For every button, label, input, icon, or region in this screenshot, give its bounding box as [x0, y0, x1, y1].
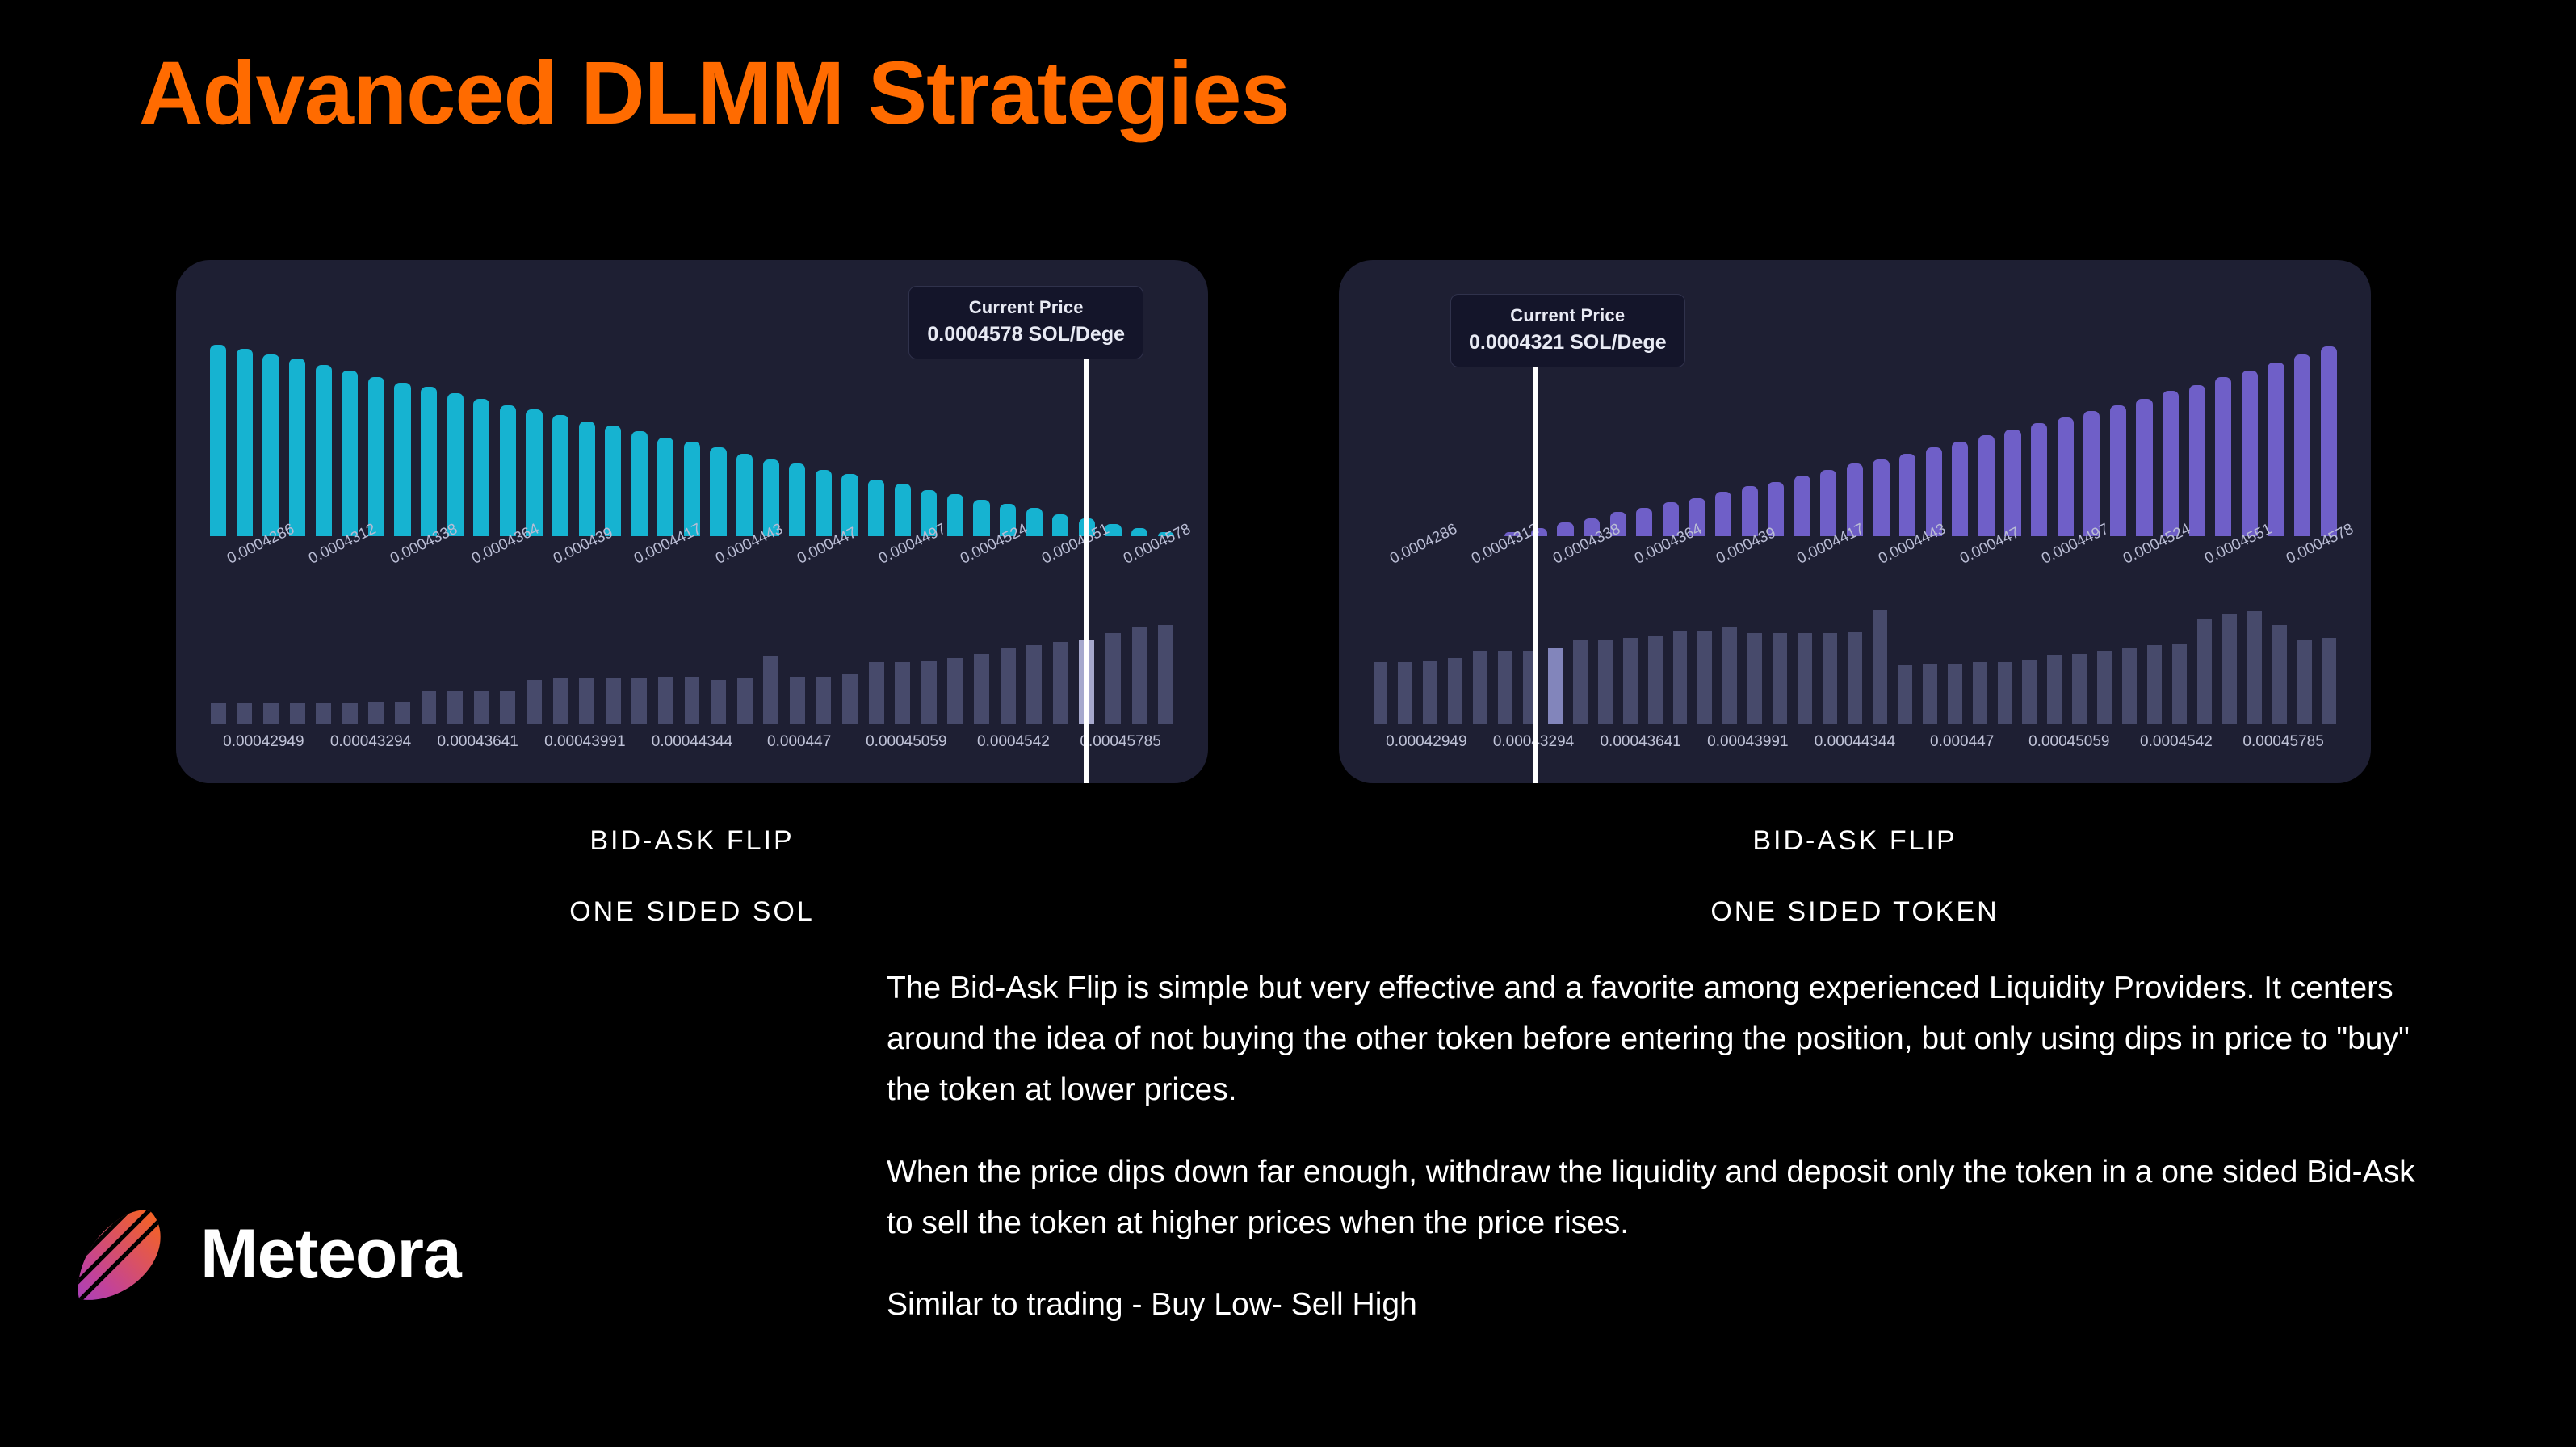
chart-bar-slot [1999, 334, 2026, 536]
chart-bar [447, 393, 464, 537]
panel-caption-left-line2: ONE SIDED SOL [176, 896, 1208, 928]
chart-bar [658, 677, 673, 723]
chart-bar [1052, 514, 1068, 537]
chart-bar [1423, 661, 1437, 723]
chart-bar-slot [1047, 334, 1074, 536]
panel-caption-right-line1: BID-ASK FLIP [1339, 825, 2371, 857]
chart-bar [1398, 662, 1412, 723]
chart-bar [685, 677, 700, 723]
chart-bar-slot [2142, 578, 2167, 723]
current-price-value: 0.0004321 SOL/Dege [1469, 330, 1667, 355]
chart-bar [500, 691, 515, 723]
chart-bar-slot [1368, 578, 1393, 723]
panel-caption-right-line2: ONE SIDED TOKEN [1339, 896, 2371, 928]
chart-bar-slot [1542, 578, 1567, 723]
chart-bar [1001, 648, 1016, 723]
chart-bar [737, 678, 753, 723]
chart-bar [579, 422, 595, 537]
chart-bar-slot [705, 334, 732, 536]
chart-bar [1557, 522, 1573, 537]
chart-bar-slot [2242, 578, 2267, 723]
chart-bar [1998, 662, 2012, 723]
chart-bar [262, 354, 279, 536]
chart-bar-slot [1592, 578, 1617, 723]
chart-bar-slot [2079, 334, 2105, 536]
chart-bar [789, 463, 805, 536]
chart-bar [2031, 423, 2047, 536]
chart-bar [816, 677, 832, 723]
axis-tick-label: 0.0004542 [2140, 733, 2213, 751]
chart-bar-slot [2289, 334, 2316, 536]
chart-bar [974, 654, 989, 723]
chart-bar-slot [389, 578, 416, 723]
chart-bar-slot [784, 334, 811, 536]
axis-tick-label: 0.00044344 [1815, 733, 1895, 751]
chart-bar [1158, 625, 1173, 723]
chart-bar [368, 377, 384, 537]
chart-bar [342, 703, 358, 723]
chart-bar [1820, 470, 1836, 537]
chart-bar [1948, 664, 1962, 723]
chart-bar [816, 470, 832, 537]
chart-bar-slot [2292, 578, 2317, 723]
chart-bar [1498, 651, 1512, 723]
chart-bar [237, 349, 253, 537]
axis-tick-label: 0.00042949 [223, 733, 304, 751]
chart-bar-slot [363, 334, 390, 536]
chart-bar [2097, 651, 2112, 723]
chart-bar [289, 359, 305, 536]
chart-bar [763, 656, 778, 723]
chart-bar-slot [1395, 334, 1421, 536]
chart-bar [2022, 660, 2037, 723]
axis-tick-label: 0.000447 [767, 733, 831, 751]
chart-bar-slot [2317, 578, 2342, 723]
chart-bar-slot [863, 334, 890, 536]
chart-bar [1673, 631, 1688, 723]
chart-bar [631, 678, 647, 723]
chart-bar-slot [1947, 334, 1974, 536]
chart-bar [710, 447, 726, 536]
axis-tick-label: 0.00042949 [1386, 733, 1466, 751]
chart-bar [973, 500, 989, 536]
chart-bar-slot [732, 578, 758, 723]
chart-bar [1636, 508, 1652, 536]
chart-bar [1598, 640, 1613, 723]
chart-bar [210, 345, 226, 537]
chart-bar-slot [521, 578, 548, 723]
chart-bar-slot [2184, 334, 2210, 536]
chart-bar [1715, 492, 1731, 536]
chart-bar-slot [1842, 334, 1869, 536]
chart-bar-slot [573, 334, 600, 536]
chart-bar-slot [732, 334, 758, 536]
chart-bar [342, 371, 358, 536]
chart-bar-slot [2217, 578, 2242, 723]
chart-bar [895, 484, 911, 536]
chart-bar [1898, 665, 1912, 723]
chart-bar-slot [1126, 334, 1153, 536]
chart-bar-slot [363, 578, 390, 723]
chart-bar-slot [337, 334, 363, 536]
chart-bar-slot [837, 334, 863, 536]
chart-bar-slot [2167, 578, 2192, 723]
chart-bar-slot [1468, 578, 1493, 723]
chart-bar-slot [1368, 334, 1395, 536]
page-title: Advanced DLMM Strategies [139, 47, 1290, 141]
chart-bar [395, 702, 410, 723]
chart-bar-slot [2042, 578, 2067, 723]
chart-bar-slot [495, 334, 522, 536]
chart-bar [2004, 430, 2020, 537]
chart-bar [895, 662, 910, 723]
chart-bar-slot [548, 578, 574, 723]
chart-bar-slot [1047, 578, 1074, 723]
chart-bar [1848, 632, 1862, 723]
axis-tick-label: 0.00045785 [1080, 733, 1160, 751]
chart-bar [2268, 363, 2284, 536]
chart-bar [2197, 619, 2212, 723]
chart-bar-slot [1768, 578, 1793, 723]
chart-bar-slot [1868, 334, 1894, 536]
chart-bar [211, 703, 226, 723]
axis-tick-label: 0.00045059 [866, 733, 946, 751]
chart-bar [2294, 354, 2310, 536]
chart-bar [2147, 645, 2162, 723]
chart-bar-slot [310, 334, 337, 536]
chart-bar [2136, 399, 2152, 536]
chart-bar [553, 678, 568, 723]
chart-bar-slot [442, 334, 468, 536]
axis-tick-label: 0.00043641 [1600, 733, 1680, 751]
chart-bar [2247, 611, 2262, 723]
chart-bar-slot [1843, 578, 1868, 723]
chart-bar-slot [416, 334, 443, 536]
body-copy: The Bid-Ask Flip is simple but very effe… [887, 963, 2445, 1330]
brand-name: Meteora [200, 1214, 461, 1294]
chart-bar-slot [889, 334, 916, 536]
body-paragraph: Similar to trading - Buy Low- Sell High [887, 1279, 2445, 1330]
chart-bar-slot [205, 334, 232, 536]
chart-bar [711, 680, 726, 723]
chart-bar-slot [205, 578, 232, 723]
chart-bar [237, 703, 252, 723]
chart-bar [605, 426, 621, 537]
chart-bar [947, 494, 963, 537]
chart-bar-slot [2092, 578, 2117, 723]
chart-bar [1899, 454, 1915, 537]
axis-tick-label: 0.00043641 [437, 733, 518, 751]
chart-bar-slot [1892, 578, 1917, 723]
chart-bar [1873, 610, 1887, 723]
chart-bar-slot [416, 578, 443, 723]
chart-bar-slot [1710, 334, 1737, 536]
chart-bar [2172, 644, 2187, 723]
chart-bar [1952, 442, 1968, 537]
chart-bar [316, 703, 331, 723]
liquidity-bar-chart-left [205, 334, 1179, 536]
chart-bar-slot [652, 334, 679, 536]
chart-bar [1448, 658, 1462, 723]
current-price-label: Current Price [927, 296, 1125, 319]
brand-logo: Meteora [71, 1203, 461, 1305]
chart-bar-slot [679, 334, 706, 536]
chart-bar-slot [1867, 578, 1892, 723]
chart-bar [2110, 405, 2126, 537]
chart-bar-slot [1942, 578, 1967, 723]
chart-bar-slot [1100, 578, 1126, 723]
axis-tick-label: 0.00043991 [1707, 733, 1788, 751]
chart-bar [1973, 662, 1987, 723]
chart-bar [316, 365, 332, 537]
axis-tick-label: 0.000447 [1930, 733, 1994, 751]
chart-bar [2321, 346, 2337, 536]
chart-bar [1823, 633, 1837, 723]
chart-bar-slot [1992, 578, 2017, 723]
chart-bar-slot [1668, 578, 1693, 723]
chart-bar [527, 680, 542, 723]
chart-bar-slot [1100, 334, 1126, 536]
chart-bar [1548, 648, 1563, 723]
chart-bar [2242, 371, 2258, 536]
chart-bar-slot [1643, 578, 1668, 723]
chart-bar-slot [652, 578, 679, 723]
chart-bar-slot [1420, 334, 1447, 536]
chart-bar [1978, 435, 1995, 536]
chart-bar-slot [1684, 334, 1710, 536]
current-price-marker-left [1084, 355, 1089, 783]
axis-tick-label: 0.00045785 [2242, 733, 2323, 751]
body-paragraph: When the price dips down far enough, wit… [887, 1147, 2445, 1248]
chart-bar [1923, 664, 1937, 723]
chart-bar-slot [2117, 578, 2142, 723]
current-price-marker-right [1533, 363, 1538, 783]
chart-bar [526, 409, 542, 537]
slide-root: Advanced DLMM Strategies Current Price 0… [0, 0, 2576, 1447]
chart-bar [1722, 627, 1737, 723]
chart-bar-slot [389, 334, 416, 536]
chart-bar [2215, 377, 2231, 537]
chart-bar-slot [1518, 578, 1543, 723]
chart-bar-slot [1152, 334, 1179, 536]
chart-bar-slot [1493, 578, 1518, 723]
chart-bar-slot [2105, 334, 2132, 536]
chart-bar-slot [1894, 334, 1921, 536]
chart-bar-slot [627, 334, 653, 536]
chart-bar-slot [284, 334, 311, 536]
chart-bar-slot [2192, 578, 2217, 723]
chart-bar [1873, 459, 1889, 536]
chart-bar [2122, 648, 2137, 723]
chart-bar-slot [1152, 578, 1179, 723]
chart-bar-slot [627, 578, 653, 723]
chart-bar-slot [1736, 334, 1763, 536]
chart-bar-slot [337, 578, 363, 723]
chart-bar-slot [600, 334, 627, 536]
chart-bar [2083, 411, 2100, 536]
chart-bar-slot [2237, 334, 2263, 536]
chart-bar [2272, 625, 2287, 723]
chart-bar [263, 703, 279, 723]
chart-bar-slot [1021, 578, 1047, 723]
chart-bar [790, 677, 805, 723]
chart-bar-slot [1818, 578, 1843, 723]
bin-volume-chart-right [1368, 578, 2342, 723]
chart-bar [2222, 614, 2237, 723]
chart-bar [290, 703, 305, 723]
chart-bar [1742, 486, 1758, 537]
chart-bar-slot [1617, 578, 1643, 723]
chart-bar [447, 691, 463, 723]
chart-bar [368, 702, 384, 723]
chart-bar-slot [784, 578, 811, 723]
current-price-label: Current Price [1469, 304, 1667, 327]
chart-bar [606, 678, 621, 723]
current-price-value: 0.0004578 SOL/Dege [927, 322, 1125, 347]
chart-bar [921, 661, 937, 723]
chart-bar-slot [2263, 334, 2289, 536]
chart-bar [1374, 662, 1388, 723]
chart-bar [473, 399, 489, 536]
chart-bar-slot [1815, 334, 1842, 536]
chart-bar [947, 658, 963, 723]
chart-bar [474, 691, 489, 723]
chart-bar [2047, 655, 2062, 723]
chart-bar [422, 691, 437, 723]
axis-tick-label: 0.00044344 [652, 733, 732, 751]
chart-bar-slot [1920, 334, 1947, 536]
chart-bar-slot [968, 578, 995, 723]
chart-bar-slot [495, 578, 522, 723]
chart-bar-slot [600, 578, 627, 723]
chart-bar-slot [1393, 578, 1418, 723]
chart-bar-slot [1789, 334, 1816, 536]
lower-axis-ticks-right: 0.000429490.000432940.000436410.00043991… [1368, 733, 2342, 761]
chart-bar-slot [1443, 578, 1468, 723]
axis-tick-label: 0.00043294 [330, 733, 411, 751]
chart-bar-slot [2026, 334, 2053, 536]
chart-bar-slot [310, 578, 337, 723]
chart-bar-slot [995, 578, 1022, 723]
chart-bar-slot [863, 578, 890, 723]
chart-bar-slot [1693, 578, 1718, 723]
chart-bar-slot [837, 578, 863, 723]
chart-bar-slot [2052, 334, 2079, 536]
chart-bar-slot [258, 334, 284, 536]
chart-bar-slot [942, 578, 969, 723]
chart-bar-slot [573, 578, 600, 723]
chart-bar [1773, 633, 1787, 723]
axis-tick-label: 0.00043991 [544, 733, 625, 751]
chart-bar [1573, 640, 1588, 723]
chart-bar [868, 480, 884, 536]
chart-bar-slot [1718, 578, 1743, 723]
chart-bar [2058, 417, 2074, 537]
current-price-callout-left: Current Price 0.0004578 SOL/Dege [908, 286, 1143, 359]
chart-bar-slot [2210, 334, 2237, 536]
chart-bar-slot [2158, 334, 2184, 536]
chart-bar-slot [468, 578, 495, 723]
chart-bar [1697, 631, 1712, 723]
chart-bar-slot [258, 578, 284, 723]
chart-bar-slot [995, 334, 1022, 536]
chart-bar [2163, 391, 2179, 536]
chart-bar [1105, 633, 1121, 723]
chart-bar-slot [757, 334, 784, 536]
chart-bar-slot [679, 578, 706, 723]
chart-bar [1026, 645, 1042, 723]
chart-bar-slot [705, 578, 732, 723]
chart-bar-slot [1418, 578, 1443, 723]
chart-bar-slot [1763, 334, 1789, 536]
chart-bar [736, 454, 753, 537]
chart-bar-slot [757, 578, 784, 723]
chart-bar-slot [889, 578, 916, 723]
chart-bar-slot [811, 334, 837, 536]
chart-bar-slot [1567, 578, 1592, 723]
chart-bar [1798, 633, 1812, 723]
chart-bar-slot [1974, 334, 2000, 536]
bin-volume-chart-left [205, 578, 1179, 723]
chart-bar-slot [2315, 334, 2342, 536]
chart-bar-slot [548, 334, 574, 536]
body-paragraph: The Bid-Ask Flip is simple but very effe… [887, 963, 2445, 1116]
current-price-callout-right: Current Price 0.0004321 SOL/Dege [1450, 294, 1685, 367]
chart-bar-slot [232, 578, 258, 723]
chart-bar [579, 678, 594, 723]
chart-bar [1131, 528, 1147, 536]
chart-bar [1747, 633, 1762, 723]
chart-bar-slot [1021, 334, 1047, 536]
chart-bar [394, 383, 410, 536]
chart-panel-right: Current Price 0.0004321 SOL/Dege 0.00042… [1339, 260, 2371, 783]
chart-bar-slot [942, 334, 969, 536]
chart-bar [657, 438, 673, 537]
chart-bar-slot [232, 334, 258, 536]
chart-bar-slot [521, 334, 548, 536]
chart-bar-slot [2267, 578, 2292, 723]
chart-bar-slot [968, 334, 995, 536]
chart-bar-slot [916, 334, 942, 536]
chart-bar [2072, 654, 2087, 723]
chart-bar [1648, 636, 1663, 723]
lower-axis-ticks-left: 0.000429490.000432940.000436410.00043991… [205, 733, 1179, 761]
axis-tick-label: 0.0004542 [977, 733, 1050, 751]
chart-bar [421, 387, 437, 536]
meteora-leaf-icon [71, 1203, 173, 1305]
chart-bar [842, 674, 858, 723]
chart-bar [552, 415, 568, 536]
chart-bar-slot [1917, 578, 1942, 723]
chart-bar [1053, 642, 1068, 723]
chart-bar-slot [1967, 578, 1992, 723]
chart-bar-slot [916, 578, 942, 723]
chart-bar [2297, 640, 2312, 723]
chart-bar [500, 405, 516, 537]
chart-bar-slot [2017, 578, 2042, 723]
chart-bar-slot [2131, 334, 2158, 536]
chart-bar [2322, 638, 2337, 723]
chart-bar-slot [1126, 578, 1153, 723]
chart-bar [1623, 638, 1638, 723]
chart-bar [2189, 385, 2205, 537]
chart-bar-slot [468, 334, 495, 536]
chart-bar [1132, 627, 1147, 723]
chart-bar [1794, 476, 1810, 536]
chart-bar-slot [442, 578, 468, 723]
chart-bar [631, 431, 648, 536]
chart-bar-slot [811, 578, 837, 723]
